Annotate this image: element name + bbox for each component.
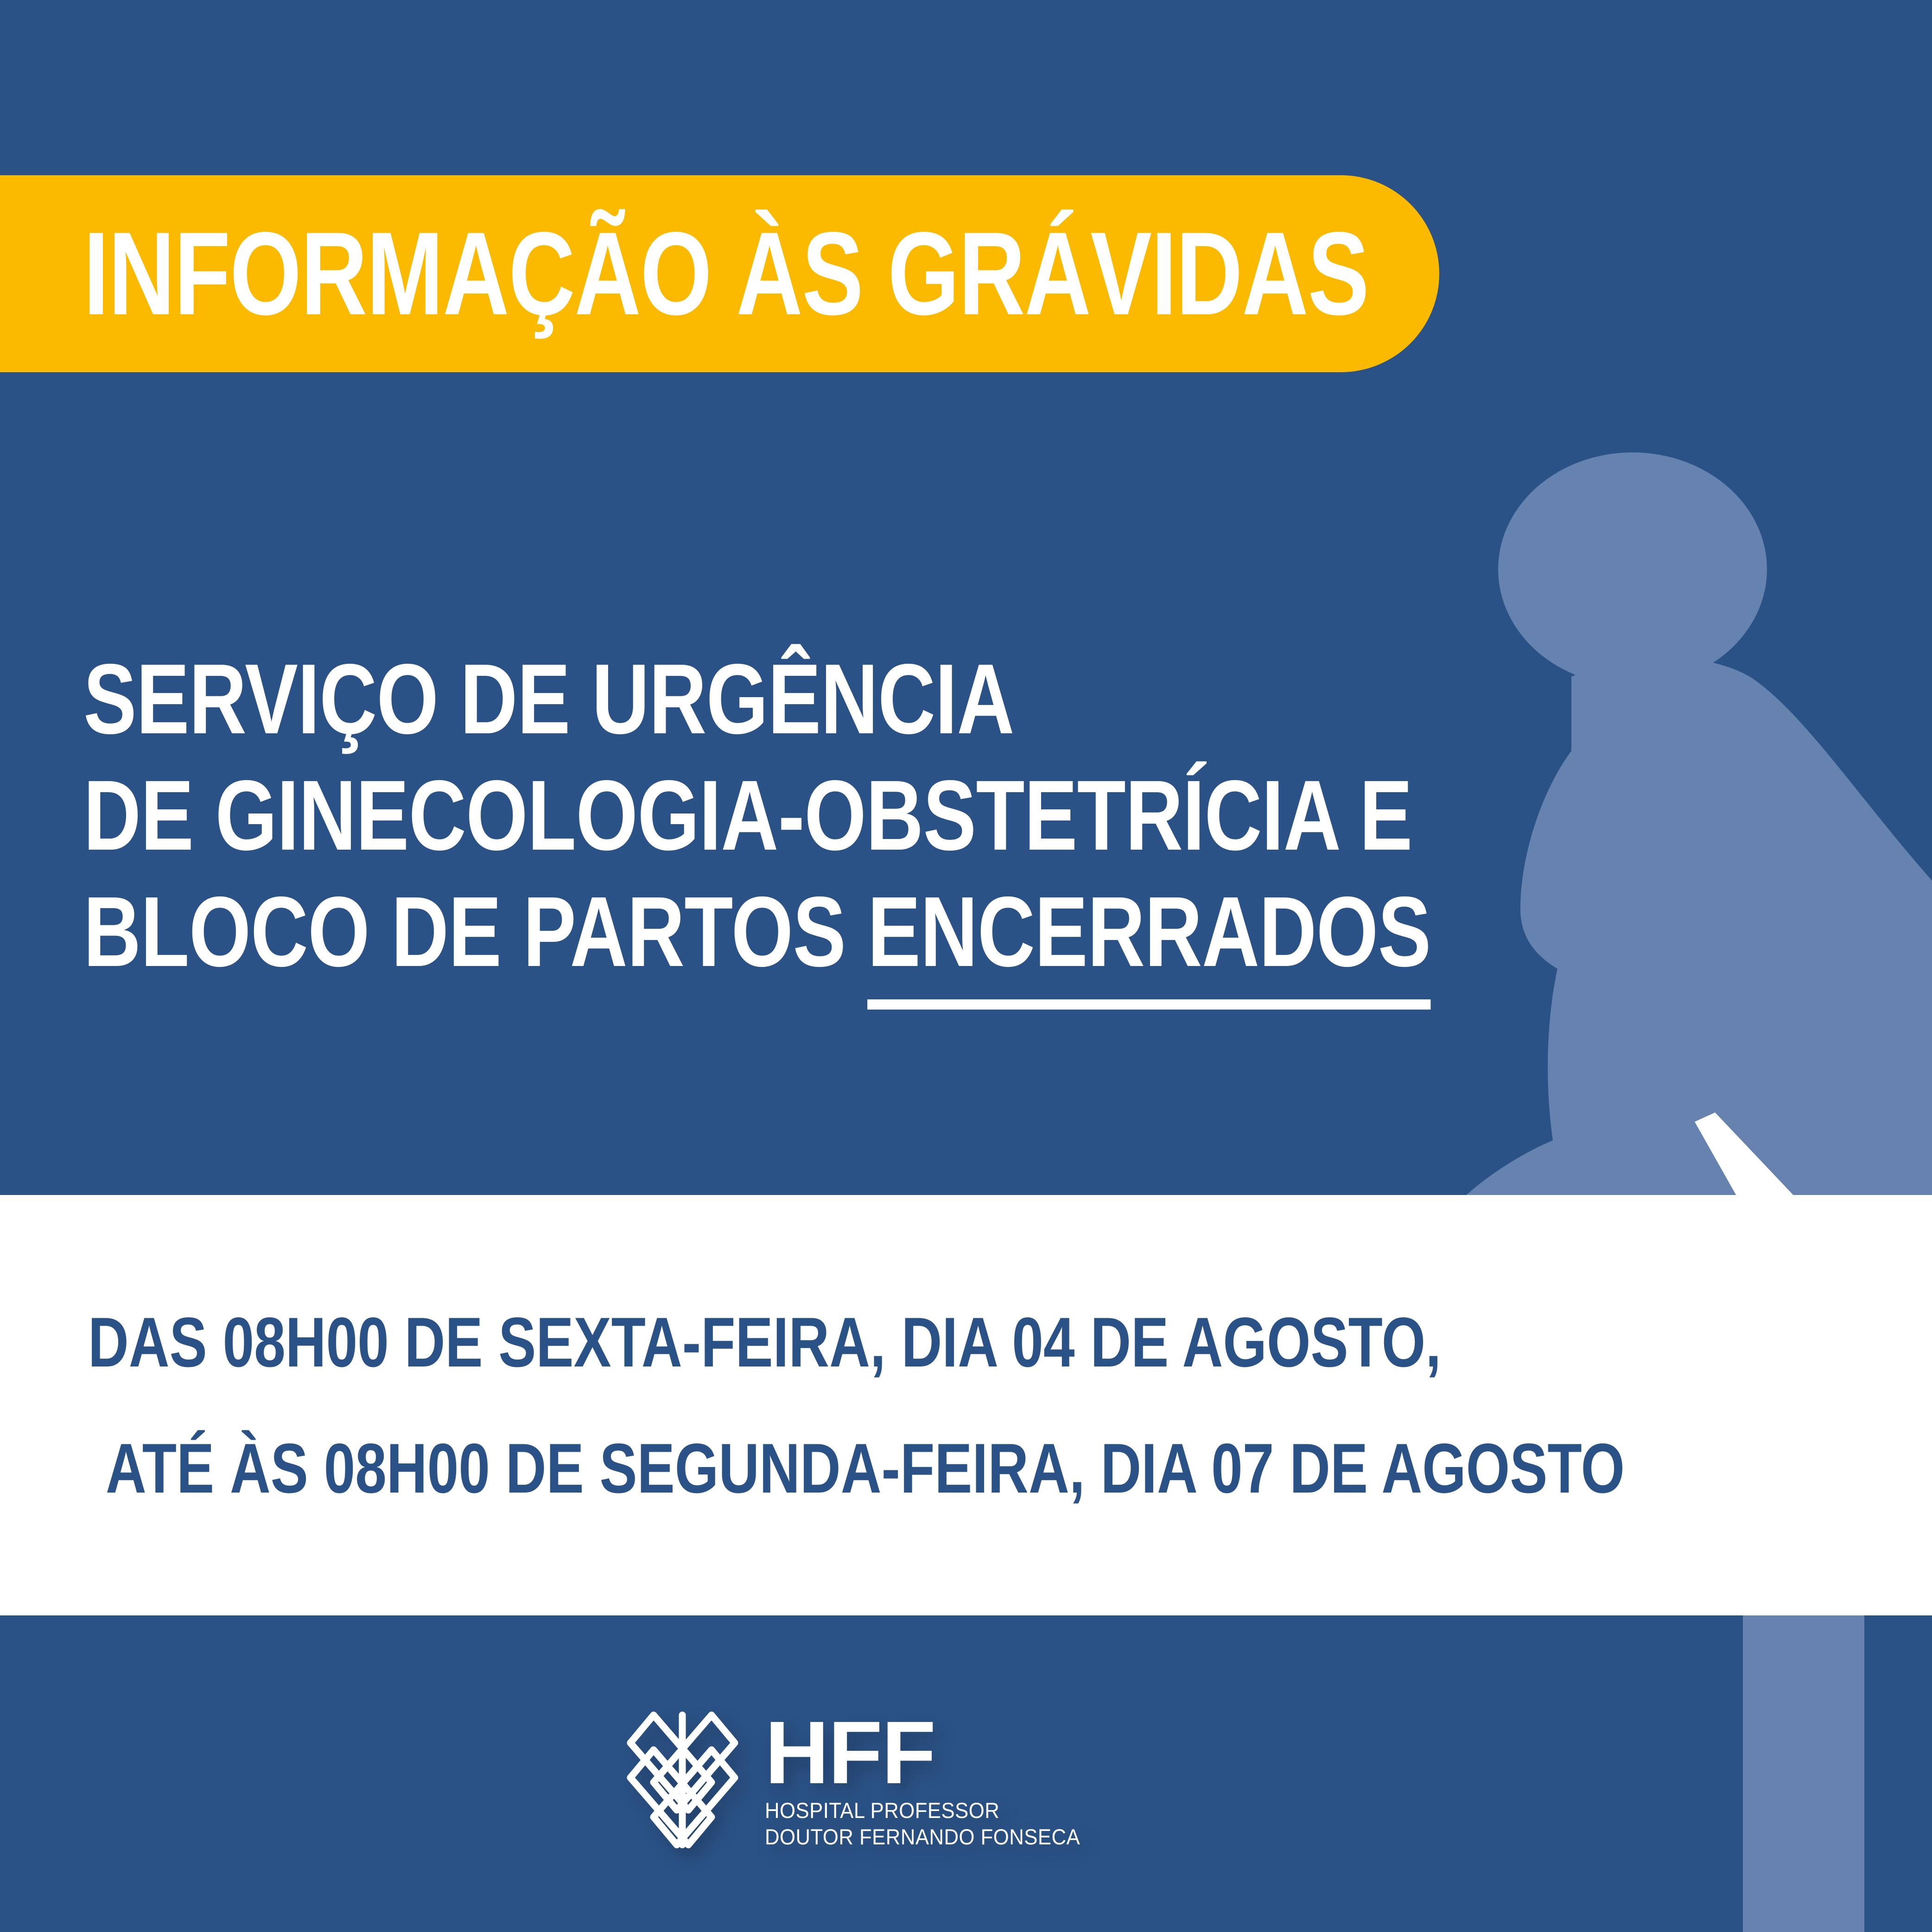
headline-line-1: SERVIÇO DE URGÊNCIA — [83, 649, 1159, 749]
headline-emphasis-encerrados: ENCERRADOS — [867, 876, 1430, 1010]
headline-line-2: DE GINECOLOGIA-OBSTETRÍCIA E — [83, 765, 1159, 865]
hff-logo-text: HFF HOSPITAL PROFESSOR DOUTOR FERNANDO F… — [765, 1710, 1104, 1850]
poster-canvas: INFORMAÇÃO ÀS GRÁVIDAS SERVIÇO DE URGÊNC… — [0, 0, 1932, 1932]
hff-woven-lattice-icon — [621, 1710, 746, 1849]
banner-pill: INFORMAÇÃO ÀS GRÁVIDAS — [0, 175, 1439, 372]
figure-leg — [1743, 1581, 1864, 1932]
hff-acronym: HFF — [765, 1714, 1104, 1791]
hff-subtitle-line-1: HOSPITAL PROFESSOR — [765, 1797, 1080, 1824]
hff-logo: HFF HOSPITAL PROFESSOR DOUTOR FERNANDO F… — [621, 1710, 1104, 1850]
headline-line-3-prefix: BLOCO DE PARTOS — [83, 876, 867, 987]
schedule-line-1: DAS 08H00 DE SEXTA-FEIRA, DIA 04 DE AGOS… — [88, 1307, 1201, 1378]
hff-subtitle-line-2: DOUTOR FERNANDO FONSECA — [765, 1824, 1080, 1850]
schedule-block: DAS 08H00 DE SEXTA-FEIRA, DIA 04 DE AGOS… — [88, 1307, 1479, 1559]
headline-line-3: BLOCO DE PARTOS ENCERRADOS — [83, 882, 1159, 981]
banner-label: INFORMAÇÃO ÀS GRÁVIDAS — [83, 225, 1368, 322]
schedule-line-2: ATÉ ÀS 08H00 DE SEGUNDA-FEIRA, DIA 07 DE… — [106, 1433, 1204, 1504]
figure-head — [1498, 452, 1767, 686]
headline-block: SERVIÇO DE URGÊNCIA DE GINECOLOGIA-OBSTE… — [83, 649, 1428, 998]
